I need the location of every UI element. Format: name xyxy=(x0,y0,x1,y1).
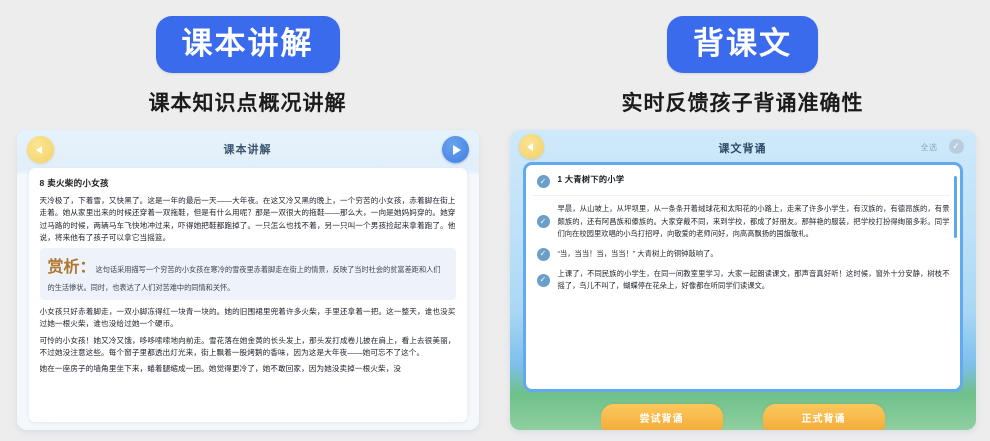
left-card-wrapper: 课本讲解 8 卖火柴的小女孩 天冷极了，下着雪，又快黑了。这是一年的最后一天——… xyxy=(0,130,495,441)
cards-row: 课本讲解 8 卖火柴的小女孩 天冷极了，下着雪，又快黑了。这是一年的最后一天——… xyxy=(0,130,990,441)
right-card-wrapper: 课文背诵 全选 ✓ ✓ 1 大青树下的小学 ✓ 早晨，从山坡上，从坪坝里，从一条… xyxy=(495,130,990,441)
lesson-paragraph: 天冷极了，下着雪，又快黑了。这是一年的最后一天——大年夜。在这又冷又黑的晚上，一… xyxy=(40,195,456,244)
try-recite-button[interactable]: 尝试背诵 xyxy=(601,404,723,430)
appreciation-note: 赏析：这句话采用描写一个穷苦的小女孩在寒冷的雪夜里赤着脚走在街上的情景，反映了当… xyxy=(40,248,456,300)
badge-recite-text: 背课文 xyxy=(667,16,818,73)
list-item[interactable]: ✓ “当，当当！当，当当！” 大青树上的铜钟敲响了。 xyxy=(532,248,950,261)
select-all-check-circle-icon[interactable]: ✓ xyxy=(949,139,964,154)
right-card-title: 课文背诵 xyxy=(510,140,976,156)
recite-item-title: 1 大青树下的小学 xyxy=(558,173,950,187)
lesson-title: 8 卖火柴的小女孩 xyxy=(40,177,456,189)
note-text: 这句话采用描写一个穷苦的小女孩在寒冷的雪夜里赤着脚走在街上的情景，反映了当时社会… xyxy=(48,265,441,292)
subtitle-recite-text: 实时反馈孩子背诵准确性 xyxy=(622,87,864,117)
recite-item-text: 早晨，从山坡上，从坪坝里，从一条条开着绒球花和太阳花的小路上，走来了许多小学生，… xyxy=(558,203,950,241)
heading-column-left: 课本讲解 课本知识点概况讲解 xyxy=(0,16,495,117)
subtitle-textbook-explain: 课本知识点概况讲解 xyxy=(149,87,347,117)
headings-row: 课本讲解 课本知识点概况讲解 背课文 实时反馈孩子背诵准确性 xyxy=(0,0,990,117)
lesson-paragraph: 可怜的小女孩！她又冷又饿，哆哆嗦嗦地向前走。雪花落在她金黄的长头发上，那头发打成… xyxy=(40,335,456,360)
recite-list[interactable]: ✓ 1 大青树下的小学 ✓ 早晨，从山坡上，从坪坝里，从一条条开着绒球花和太阳花… xyxy=(523,162,963,392)
list-item[interactable]: ✓ 上课了，不同民族的小学生，在同一间教室里学习，大家一起朗读课文，那声音真好听… xyxy=(532,268,950,293)
list-item[interactable]: ✓ 1 大青树下的小学 xyxy=(532,173,950,188)
lesson-paragraph: 她在一座房子的墙角里坐下来，蜷着腿缩成一团。她觉得更冷了，她不敢回家，因为她没卖… xyxy=(40,363,456,375)
lesson-content-sheet[interactable]: 8 卖火柴的小女孩 天冷极了，下着雪，又快黑了。这是一年的最后一天——大年夜。在… xyxy=(29,168,467,422)
check-circle-icon[interactable]: ✓ xyxy=(537,215,550,228)
check-circle-icon[interactable]: ✓ xyxy=(537,175,550,188)
divider xyxy=(532,195,950,196)
formal-recite-button[interactable]: 正式背诵 xyxy=(763,404,885,430)
list-item[interactable]: ✓ 早晨，从山坡上，从坪坝里，从一条条开着绒球花和太阳花的小路上，走来了许多小学… xyxy=(532,203,950,241)
scrollbar-thumb[interactable] xyxy=(954,176,957,238)
badge-textbook-explain: 课本讲解 xyxy=(156,16,340,73)
textbook-explain-card: 课本讲解 8 卖火柴的小女孩 天冷极了，下着雪，又快黑了。这是一年的最后一天——… xyxy=(17,130,479,430)
play-button[interactable] xyxy=(442,136,469,163)
recite-item-text: “当，当当！当，当当！” 大青树上的铜钟敲响了。 xyxy=(558,248,950,261)
note-label: 赏析： xyxy=(48,259,96,276)
lesson-paragraph: 小女孩只好赤着脚走，一双小脚冻得红一块青一块的。她的旧围裙里兜着许多火柴，手里还… xyxy=(40,306,456,331)
check-circle-icon[interactable]: ✓ xyxy=(537,248,550,261)
recite-action-buttons: 尝试背诵 正式背诵 xyxy=(510,396,976,430)
heading-column-right: 背课文 实时反馈孩子背诵准确性 xyxy=(495,16,990,117)
check-circle-icon[interactable]: ✓ xyxy=(537,274,550,287)
page-root: 课本讲解 课本知识点概况讲解 背课文 实时反馈孩子背诵准确性 课本讲解 xyxy=(0,0,990,441)
left-card-title: 课本讲解 xyxy=(17,141,479,157)
right-card-header: 课文背诵 全选 ✓ xyxy=(510,130,976,164)
recite-item-text: 上课了，不同民族的小学生，在同一间教室里学习，大家一起朗读课文，那声音真好听！这… xyxy=(558,268,950,293)
recite-text-card: 课文背诵 全选 ✓ ✓ 1 大青树下的小学 ✓ 早晨，从山坡上，从坪坝里，从一条… xyxy=(510,130,976,430)
play-icon xyxy=(453,145,461,155)
select-all-label[interactable]: 全选 xyxy=(921,142,938,153)
left-card-header: 课本讲解 xyxy=(17,130,479,170)
